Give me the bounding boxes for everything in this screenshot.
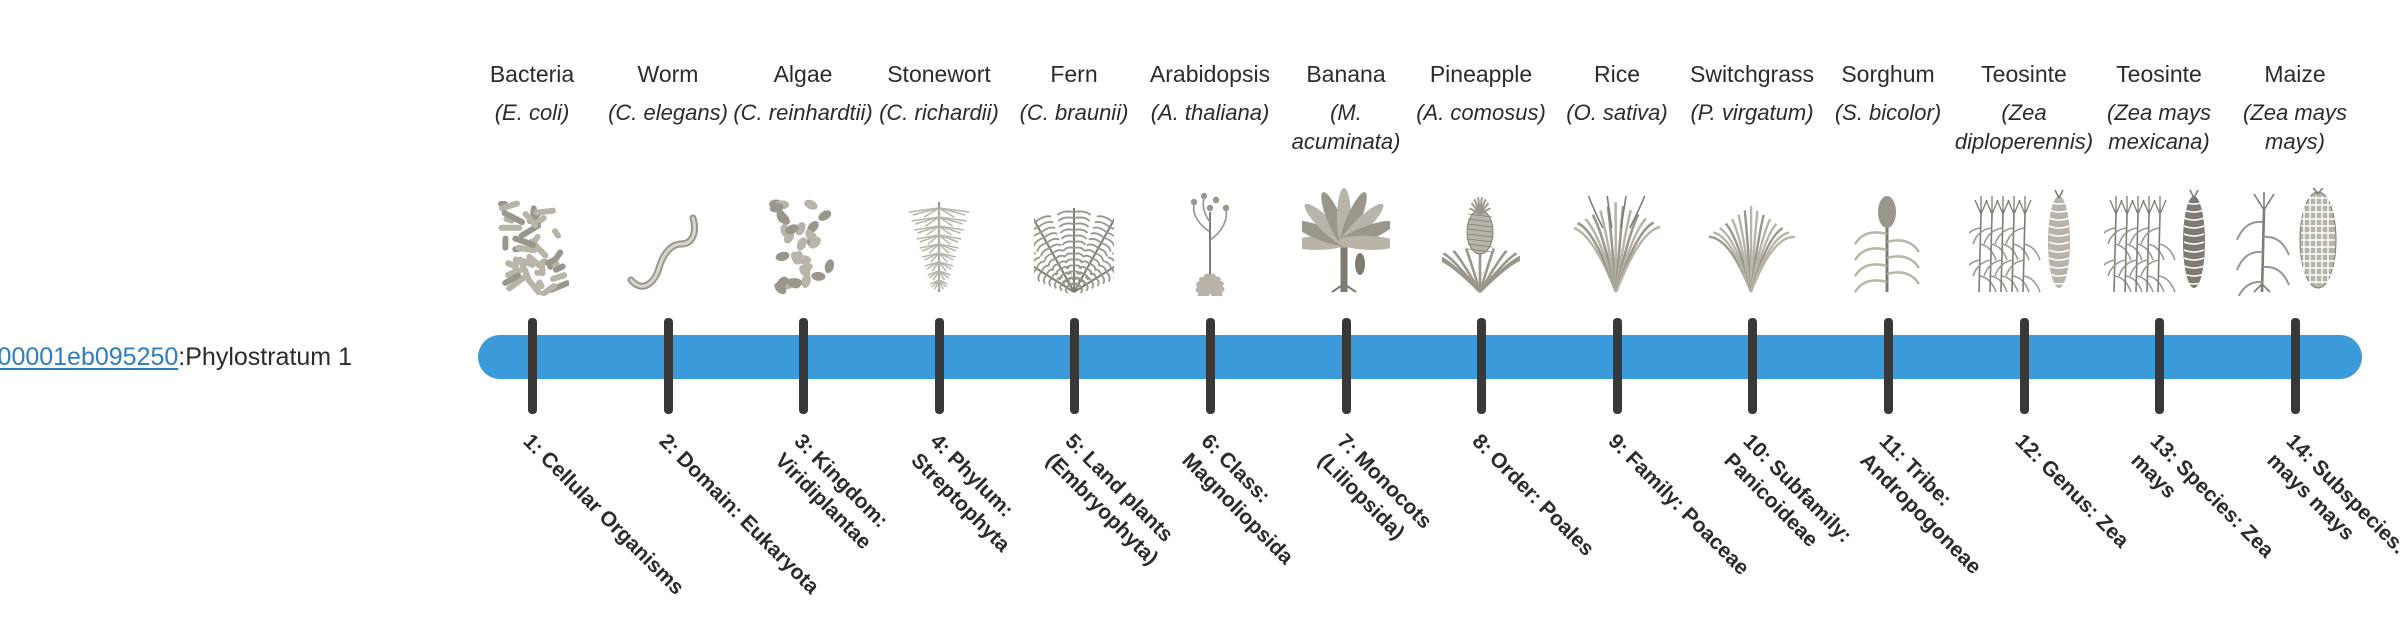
species-common-name: Banana	[1278, 60, 1414, 88]
phylostratum-tick[interactable]	[1070, 318, 1079, 414]
phylostratum-tick[interactable]	[2020, 318, 2029, 414]
bacteria-rods-icon	[464, 168, 600, 296]
species-common-name: Teosinte	[2091, 60, 2227, 88]
species-common-name: Pineapple	[1413, 60, 1549, 88]
phylostratum-tick[interactable]	[2155, 318, 2164, 414]
species-common-name: Maize	[2227, 60, 2363, 88]
phylostratum-tick[interactable]	[664, 318, 673, 414]
phylostratum-timeline-figure: Zm00001eb095250: Phylostratum 1 Bacteria…	[0, 0, 2400, 580]
species-common-name: Fern	[1006, 60, 1142, 88]
gene-label-separator: :	[178, 343, 185, 372]
banana-plant-icon	[1278, 168, 1414, 296]
phylostratum-tick[interactable]	[1342, 318, 1351, 414]
maize-plant-and-cob-icon	[2227, 168, 2363, 296]
stonewort-alga-icon	[871, 168, 1007, 296]
phylostratum-value: Phylostratum 1	[185, 343, 352, 372]
phylostratum-tick[interactable]	[935, 318, 944, 414]
species-scientific-name: (S. bicolor)	[1816, 98, 1960, 127]
phylostratum-tick[interactable]	[799, 318, 808, 414]
phylostratum-tick[interactable]	[1748, 318, 1757, 414]
species-column: Rice(O. sativa)9: Family: Poaceae	[1549, 0, 1685, 580]
phylostratum-tick[interactable]	[1206, 318, 1215, 414]
species-column: Pineapple(A. comosus)8: Order: Poales	[1413, 0, 1549, 580]
species-scientific-name: (A. comosus)	[1409, 98, 1553, 127]
species-column: Teosinte(Zea diploperennis)12: Genus: Ze…	[1956, 0, 2092, 580]
phylostratum-tick[interactable]	[1477, 318, 1486, 414]
phylostratum-tick[interactable]	[2291, 318, 2300, 414]
species-common-name: Algae	[735, 60, 871, 88]
species-column: Banana(M. acuminata)7: Monocots (Liliops…	[1278, 0, 1414, 580]
nematode-worm-icon	[600, 168, 736, 296]
phylostratum-tick[interactable]	[1613, 318, 1622, 414]
gene-id-link[interactable]: Zm00001eb095250	[0, 343, 178, 372]
species-scientific-name: (Zea mays mays)	[2223, 98, 2367, 156]
species-common-name: Worm	[600, 60, 736, 88]
species-column: Bacteria(E. coli)1: Cellular Organisms	[464, 0, 600, 580]
species-scientific-name: (C. elegans)	[596, 98, 740, 127]
switchgrass-plant-icon	[1684, 168, 1820, 296]
species-scientific-name: (A. thaliana)	[1138, 98, 1282, 127]
species-scientific-name: (Zea diploperennis)	[1952, 98, 2096, 156]
species-column: Worm(C. elegans)2: Domain: Eukaryota	[600, 0, 736, 580]
phylostratum-tick[interactable]	[1884, 318, 1893, 414]
species-common-name: Sorghum	[1820, 60, 1956, 88]
species-column: Maize(Zea mays mays)14: Subspecies: Zea …	[2227, 0, 2363, 580]
species-column: Algae(C. reinhardtii)3: Kingdom: Viridip…	[735, 0, 871, 580]
fern-frond-icon	[1006, 168, 1142, 296]
species-column: Fern(C. braunii)5: Land plants (Embryoph…	[1006, 0, 1142, 580]
species-common-name: Arabidopsis	[1142, 60, 1278, 88]
species-scientific-name: (C. richardii)	[867, 98, 1011, 127]
species-scientific-name: (M. acuminata)	[1274, 98, 1418, 156]
rice-plant-icon	[1549, 168, 1685, 296]
species-scientific-name: (E. coli)	[460, 98, 604, 127]
species-column: Teosinte(Zea mays mexicana)13: Species: …	[2091, 0, 2227, 580]
species-scientific-name: (C. braunii)	[1002, 98, 1146, 127]
species-scientific-name: (O. sativa)	[1545, 98, 1689, 127]
species-column: Switchgrass(P. virgatum)10: Subfamily: P…	[1684, 0, 1820, 580]
algae-cells-icon	[735, 168, 871, 296]
gene-phylostratum-label: Zm00001eb095250: Phylostratum 1	[0, 335, 352, 379]
species-scientific-name: (Zea mays mexicana)	[2087, 98, 2231, 156]
species-common-name: Bacteria	[464, 60, 600, 88]
phylostratum-tick[interactable]	[528, 318, 537, 414]
species-column: Stonewort(C. richardii)4: Phylum: Strept…	[871, 0, 1007, 580]
species-scientific-name: (C. reinhardtii)	[731, 98, 875, 127]
species-common-name: Switchgrass	[1684, 60, 1820, 88]
arabidopsis-plant-icon	[1142, 168, 1278, 296]
species-common-name: Teosinte	[1956, 60, 2092, 88]
teosinte-plant-and-ear-icon	[1956, 168, 2092, 296]
pineapple-plant-icon	[1413, 168, 1549, 296]
sorghum-plant-icon	[1820, 168, 1956, 296]
teosinte-mexicana-plant-and-ear-icon	[2091, 168, 2227, 296]
species-column: Arabidopsis(A. thaliana)6: Class: Magnol…	[1142, 0, 1278, 580]
species-scientific-name: (P. virgatum)	[1680, 98, 1824, 127]
species-common-name: Rice	[1549, 60, 1685, 88]
species-column: Sorghum(S. bicolor)11: Tribe: Andropogon…	[1820, 0, 1956, 580]
species-common-name: Stonewort	[871, 60, 1007, 88]
